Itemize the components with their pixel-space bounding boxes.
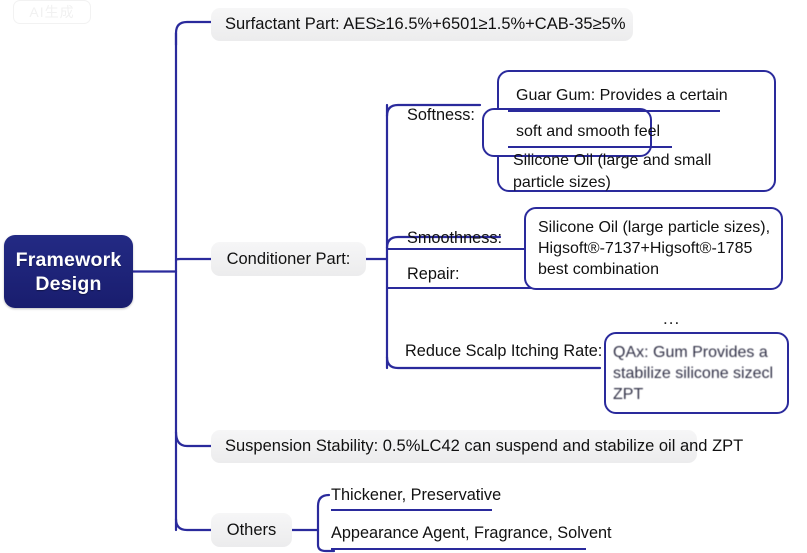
softness-line-2: soft and smooth feel (516, 121, 766, 143)
softness-rule-1 (508, 110, 720, 112)
smoothness-rule (387, 248, 531, 250)
itching-card-line-2: stabilize silicone sizecl (613, 363, 788, 385)
node-conditioner-part-label: Conditioner Part: (227, 250, 351, 269)
softness-line-1: Guar Gum: Provides a certain (516, 85, 766, 107)
softness-line-3: Silicone Oil (large and small particle s… (513, 150, 765, 193)
others-rule-1 (331, 509, 492, 511)
others-item-appearance-agent: Appearance Agent, Fragrance, Solvent (331, 523, 612, 543)
root-node-framework-design[interactable]: Framework Design (4, 235, 133, 308)
node-surfactant-part[interactable]: Surfactant Part: AES≥16.5%+6501≥1.5%+CAB… (211, 8, 633, 41)
itching-card-line-1: QAx: Gum Provides a (613, 342, 788, 364)
connector-to-others (176, 519, 211, 530)
connector-to-conditioner (176, 259, 211, 260)
repair-rule (387, 287, 535, 289)
softness-rule-2 (508, 146, 672, 148)
node-conditioner-part[interactable]: Conditioner Part: (211, 242, 366, 276)
root-node-line1: Framework (16, 248, 122, 272)
label-smoothness: Smoothness: (407, 228, 502, 248)
smoothness-card-line-3: best combination (538, 259, 778, 281)
label-repair: Repair: (407, 264, 460, 284)
others-item-thickener-preservative: Thickener, Preservative (331, 485, 501, 505)
node-surfactant-part-label: Surfactant Part: AES≥16.5%+6501≥1.5%+CAB… (225, 15, 626, 34)
diagram-canvas: AI生成 Framework Design Surfactant Part: (0, 0, 807, 553)
node-others-label: Others (227, 521, 277, 540)
smoothness-card-line-2: Higsoft®-7137+Higsoft®-1785 (538, 238, 778, 260)
node-others[interactable]: Others (211, 513, 292, 547)
itching-card-line-3: ZPT (613, 384, 788, 406)
node-suspension-stability-label: Suspension Stability: 0.5%LC42 can suspe… (225, 437, 743, 456)
connector-to-suspension (176, 432, 211, 446)
ellipsis-more: ... (663, 309, 680, 329)
smoothness-card-line-1: Silicone Oil (large particle sizes), (538, 217, 778, 239)
label-reduce-scalp-itching-rate: Reduce Scalp Itching Rate: (405, 341, 602, 361)
root-node-line2: Design (16, 272, 122, 296)
others-rule-2 (331, 548, 586, 550)
node-suspension-stability[interactable]: Suspension Stability: 0.5%LC42 can suspe… (211, 430, 697, 463)
ai-generated-watermark: AI生成 (13, 0, 91, 24)
label-softness: Softness: (407, 105, 475, 125)
connector-to-surfactant (176, 22, 211, 45)
